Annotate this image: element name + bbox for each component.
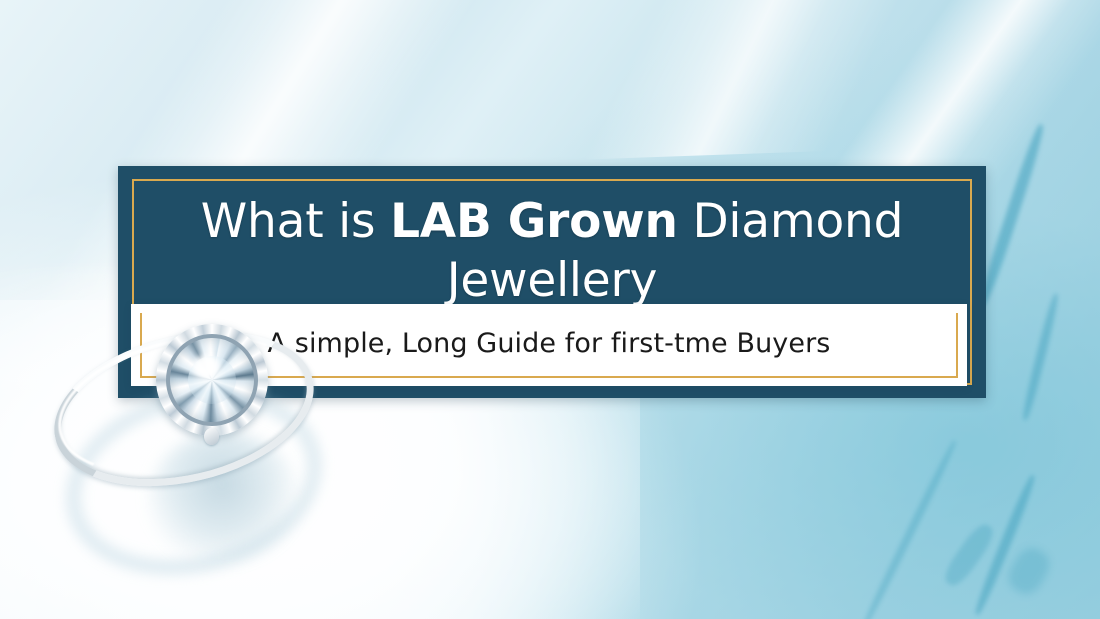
headline-line1-pre: What is [201,194,390,249]
ring-prong [204,428,219,445]
page-title: What is LAB Grown DiamondJewellery [152,192,952,310]
diamond-ring-image [30,300,360,560]
diamond-sparkle [193,355,219,377]
lab-grown-diamond-banner: What is LAB Grown DiamondJewellery A sim… [0,0,1100,619]
headline-line1-post: Diamond [678,194,904,249]
headline-line2: Jewellery [447,253,658,308]
headline-line1-emphasis: LAB Grown [390,194,678,249]
